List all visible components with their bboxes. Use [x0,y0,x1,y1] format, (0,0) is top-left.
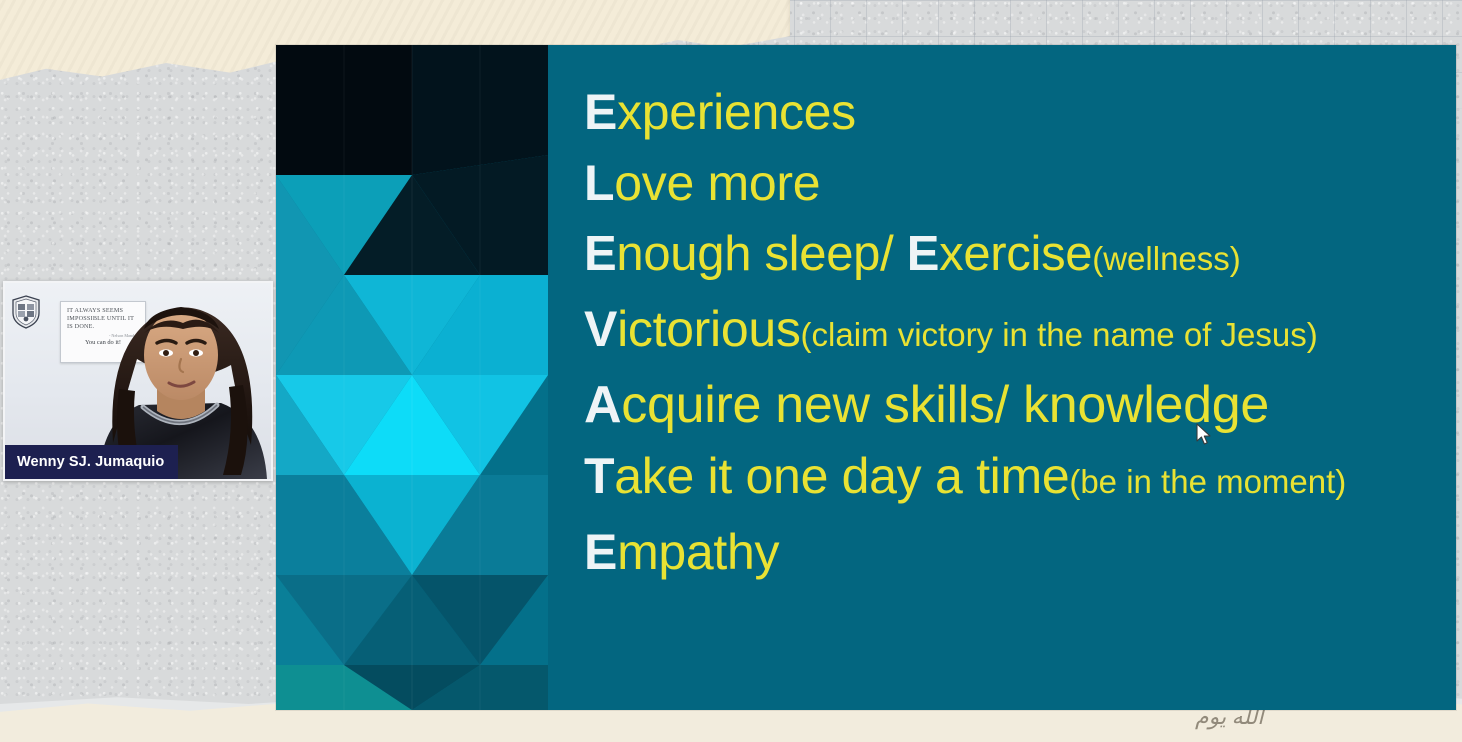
slide-line-note: (claim victory in the name of Jesus) [801,316,1318,353]
slide-line-text: cquire new skills/ knowledge [621,376,1269,434]
slide-line-victorious: Victorious(claim victory in the name of … [584,294,1444,370]
low-poly-triangle-graphic [276,45,548,710]
slide-line-text: nough sleep/ [616,227,906,281]
slide-text-block: Experiences Love more Enough sleep/ Exer… [584,77,1444,710]
slide-line-text: ictorious [617,301,800,357]
slide-line-initial: E [584,524,617,580]
participant-name-badge: Wenny SJ. Jumaquio [5,445,178,479]
slide-line-empathy: Empathy [584,517,1444,588]
slide-line-text: ake it one day a time [614,448,1069,504]
slide-line-text-secondary: xercise [939,227,1092,281]
slide-line-text: xperiences [617,84,856,140]
slide-line-initial: E [584,227,616,281]
slide-line-initial-secondary: E [907,227,939,281]
slide-line-enough-sleep-exercise: Enough sleep/ Exercise(wellness) [584,219,1444,294]
slide-line-acquire-skills: Acquire new skills/ knowledge [584,370,1444,441]
slide-line-text: mpathy [617,524,779,580]
slide-line-one-day-a-time: Take it one day a time(be in the moment) [584,441,1444,517]
school-crest-icon [11,295,41,329]
slide-line-initial: A [584,376,621,434]
slide-line-text: ove more [614,155,820,211]
slide-line-initial: L [584,155,614,211]
slide-line-love-more: Love more [584,148,1444,219]
presentation-slide[interactable]: Experiences Love more Enough sleep/ Exer… [276,45,1456,710]
video-participant-tile[interactable]: IT ALWAYS SEEMS IMPOSSIBLE UNTIL IT IS D… [3,281,273,481]
slide-line-initial: V [584,301,617,357]
slide-line-note: (be in the moment) [1069,463,1346,500]
participant-name: Wenny SJ. Jumaquio [17,454,164,470]
slide-line-note: (wellness) [1092,240,1241,277]
slide-line-initial: T [584,448,614,504]
slide-line-experiences: Experiences [584,77,1444,148]
slide-line-initial: E [584,84,617,140]
